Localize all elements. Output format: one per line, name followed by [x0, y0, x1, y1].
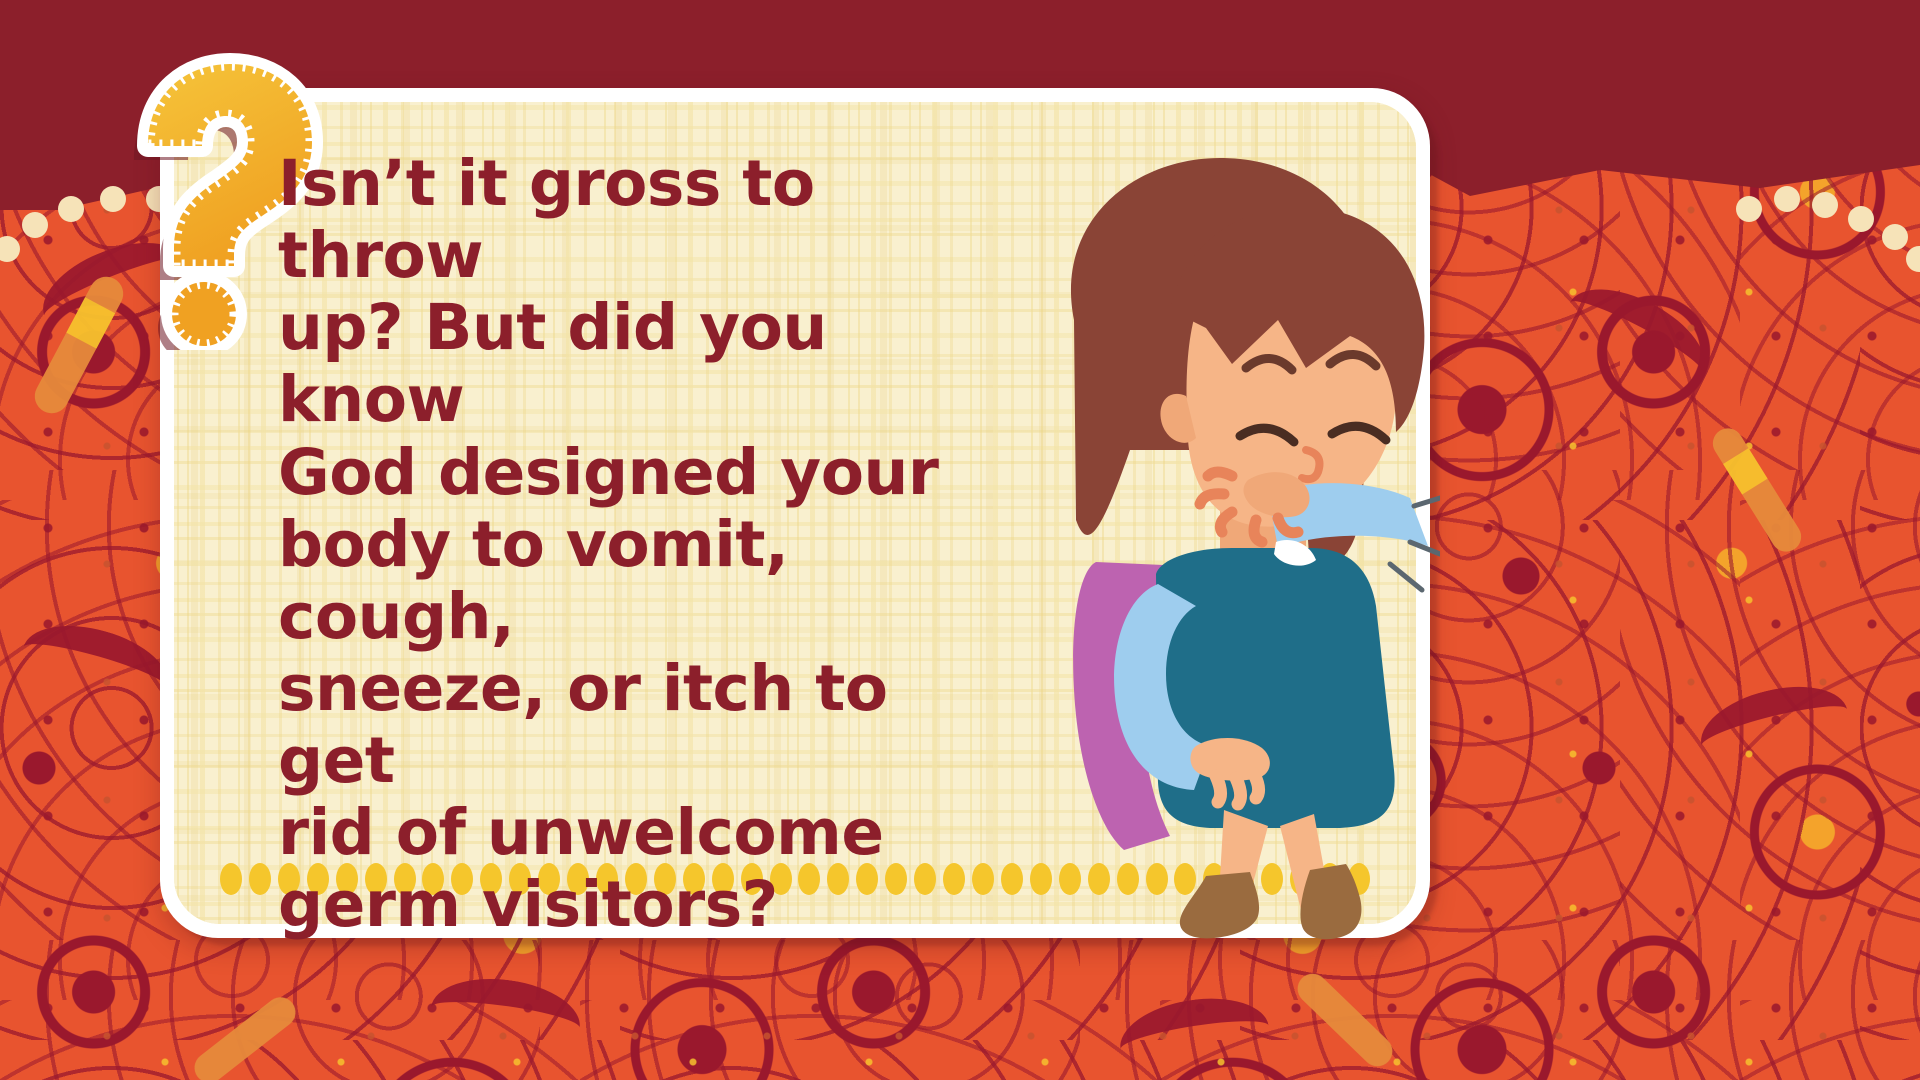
bead: [1812, 192, 1838, 218]
left-fingers: [1216, 774, 1259, 804]
bead: [22, 212, 48, 238]
page-title: Isn’t it gross to throw up? But did you …: [278, 148, 978, 941]
bead: [1882, 224, 1908, 250]
boot-back: [1300, 864, 1361, 939]
boot-front: [1180, 872, 1259, 938]
slide-canvas: Isn’t it gross to throw up? But did you …: [0, 0, 1920, 1080]
bead: [1736, 196, 1762, 222]
bead: [0, 236, 20, 262]
question-mark-dot: [172, 282, 236, 346]
bead: [1774, 186, 1800, 212]
girl-sneezing-illustration: [1010, 150, 1440, 940]
bead: [1848, 206, 1874, 232]
